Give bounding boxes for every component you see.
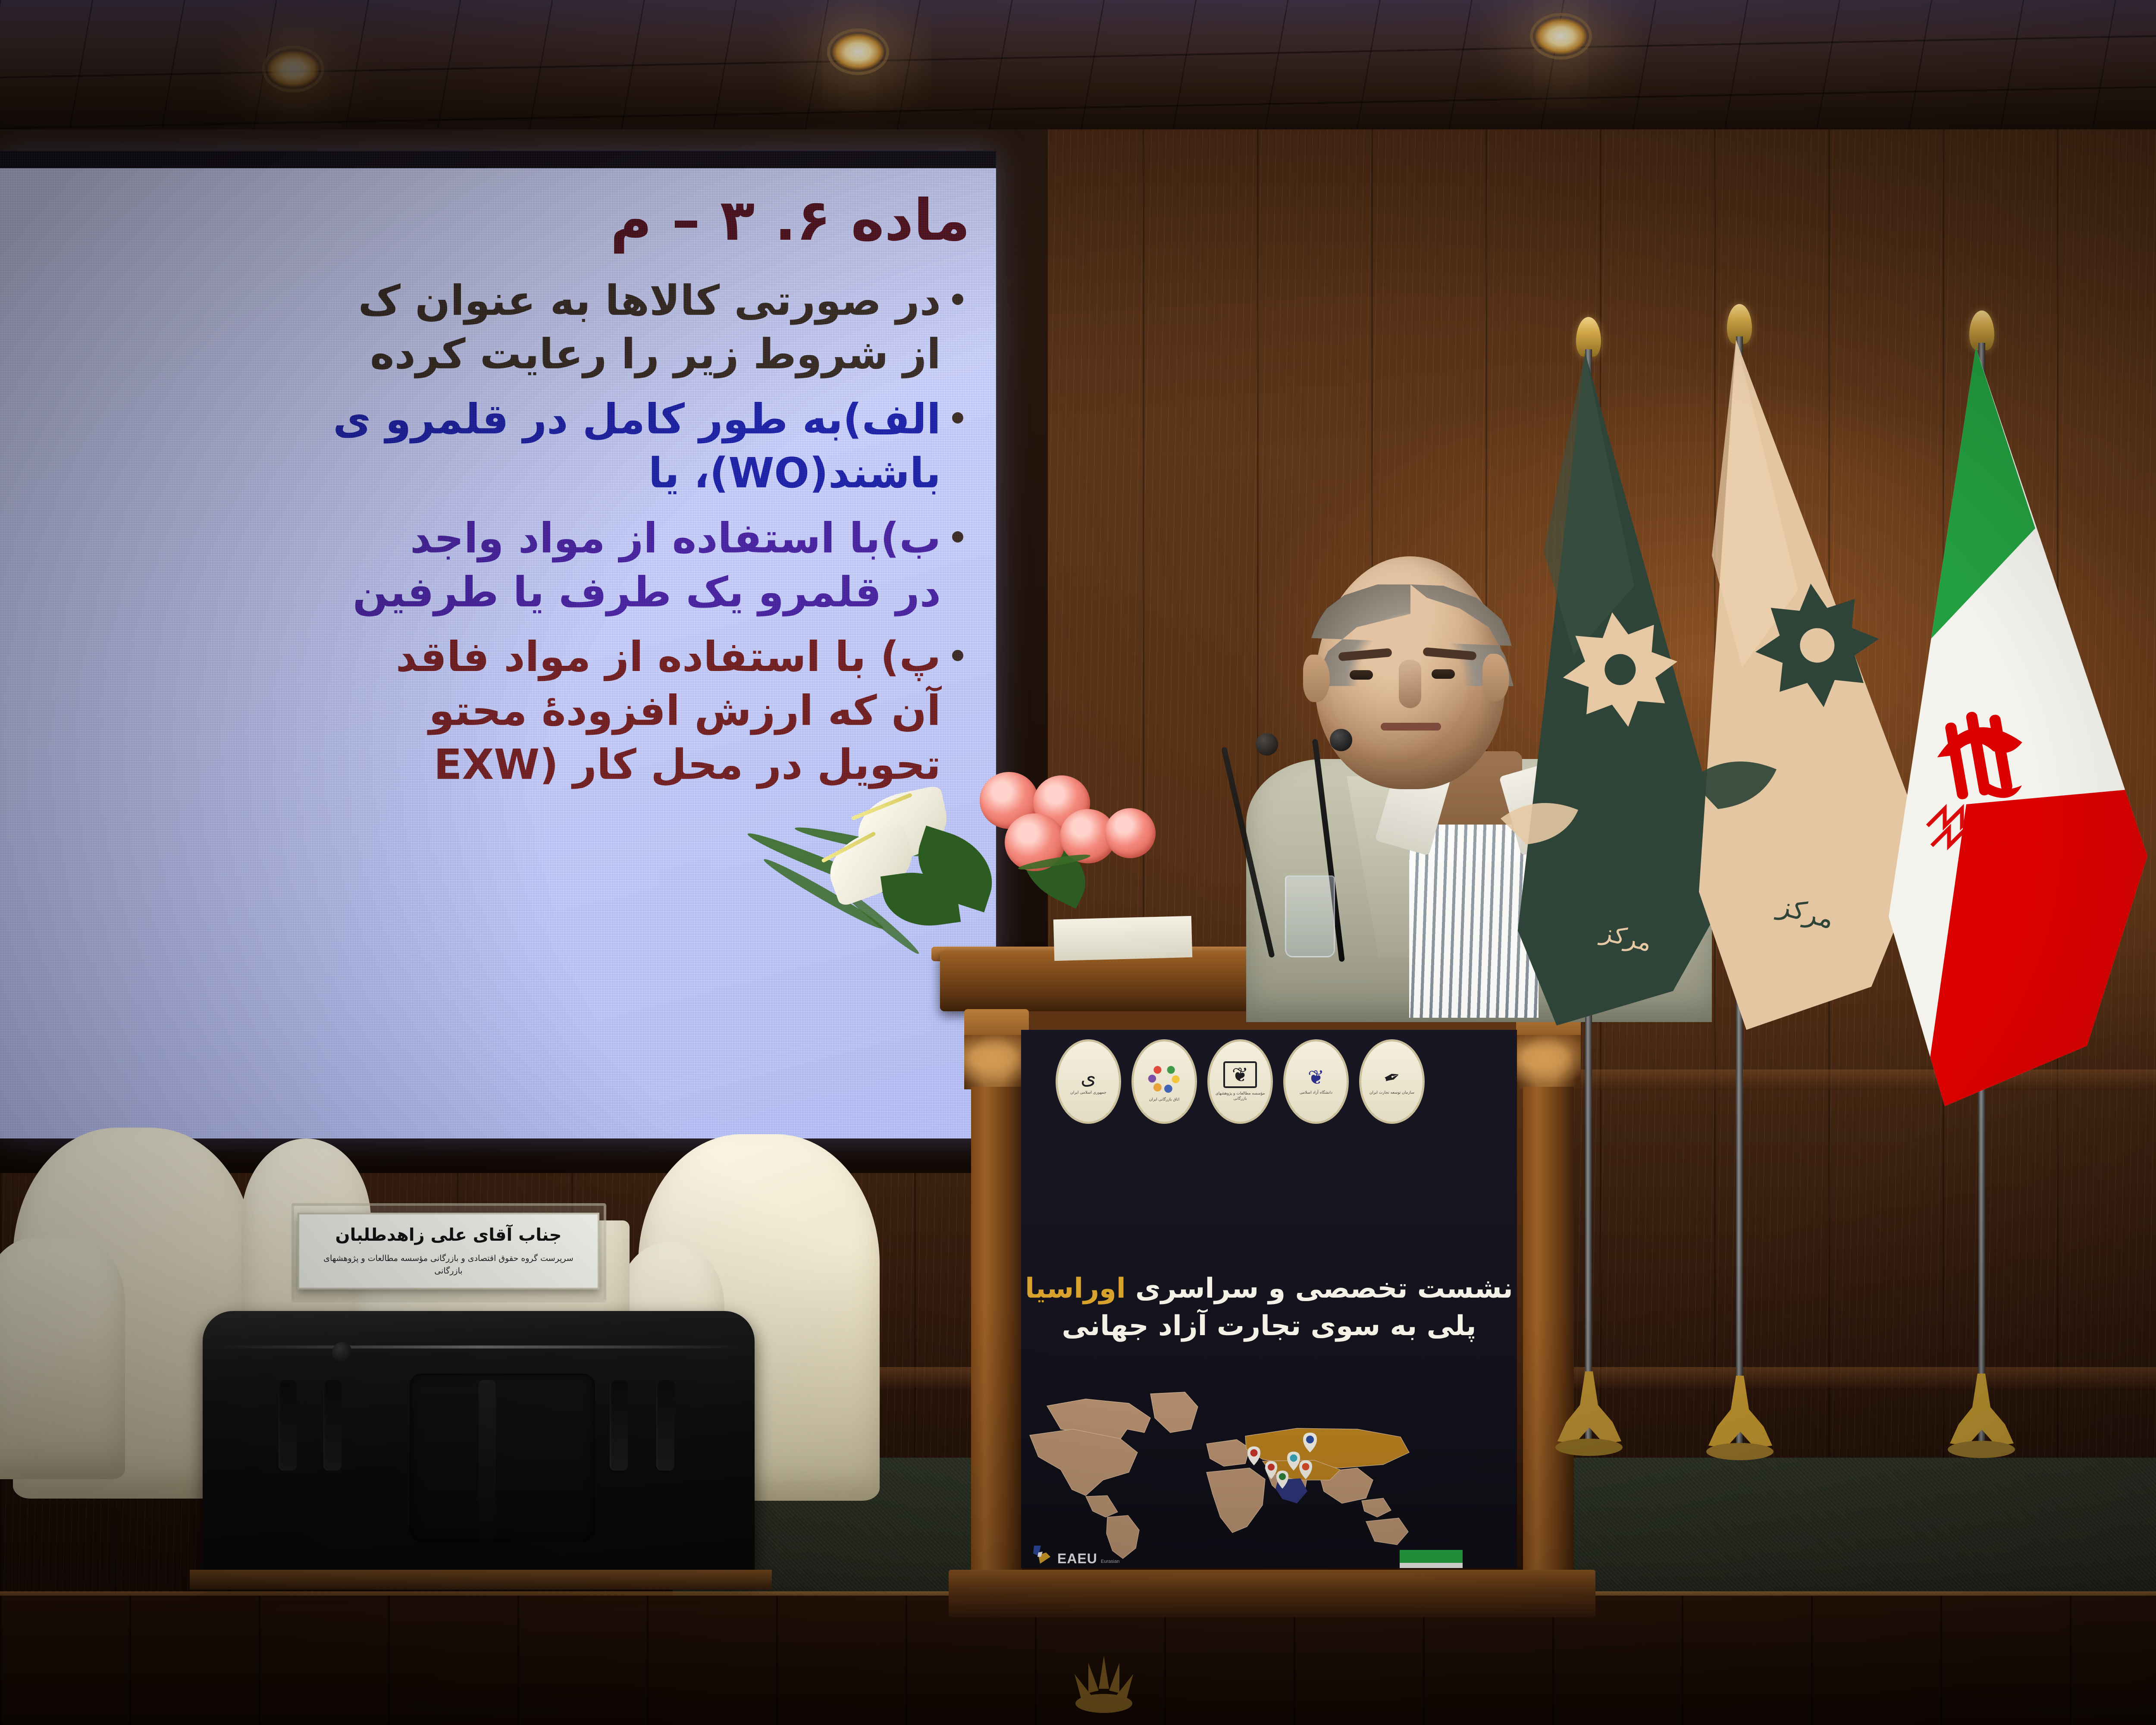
calligraphy-badge: ✒ سازمان توسعه تجارت ایران: [1359, 1039, 1425, 1124]
banner-title-prefix: نشست تخصصی و سراسری: [1126, 1273, 1513, 1305]
banner-green-strip: [1400, 1550, 1463, 1568]
carved-wood-ornament-icon: [1044, 1652, 1164, 1725]
slide-title: ماده ۶. ۳ – م: [0, 191, 970, 251]
azad-logo-icon: ❦: [1308, 1067, 1325, 1087]
badge-caption: دانشگاه آزاد اسلامی: [1295, 1091, 1337, 1096]
slide-bullet-text: الف)به طور کامل در قلمرو ی باشند(WO)، یا: [0, 392, 941, 500]
case-vent: [323, 1380, 342, 1471]
eaeu-logo: EAEU Eurasian: [1031, 1545, 1119, 1565]
ring-logo-icon: [1147, 1060, 1181, 1094]
equipment-base-shelf: [190, 1570, 772, 1590]
azad-university-badge: ❦ دانشگاه آزاد اسلامی: [1283, 1039, 1349, 1124]
slide-bullet-text: ب)با استفاده از مواد واجد در قلمرو یک طر…: [0, 511, 941, 619]
flag-stand-base: [1535, 1371, 1643, 1462]
ceiling-light-icon: [1535, 18, 1587, 54]
name-placard: جناب آقای علی زاهدطلبان سرپرست گروه حقوق…: [298, 1213, 599, 1289]
banner-title-block: نشست تخصصی و سراسری اوراسیا پلی به سوی ت…: [1021, 1271, 1517, 1344]
leaf-frame-icon: ❦: [1223, 1061, 1257, 1088]
banner-title-line1: نشست تخصصی و سراسری اوراسیا: [1021, 1271, 1517, 1306]
banner-title-accent: اوراسیا: [1025, 1273, 1126, 1305]
bullet-dot-icon: [952, 650, 963, 661]
bullet-dot-icon: [952, 294, 963, 305]
slide-bullet-text: در صورتی کالاها به عنوان ک از شروط زیر ر…: [0, 274, 941, 382]
iran-national-flag: [1863, 347, 2156, 1167]
iran-emblem-badge: ی جمهوری اسلامی ایران: [1056, 1039, 1121, 1124]
flower-arrangement: [742, 729, 1147, 1013]
screen-top-frame: [0, 151, 996, 168]
ceiling-light-icon: [832, 34, 884, 70]
banner-title-line2: پلی به سوی تجارت آزاد جهانی: [1021, 1308, 1517, 1344]
speaker-nose: [1399, 660, 1421, 708]
case-vent: [279, 1380, 297, 1471]
speaker-ear-left: [1303, 655, 1330, 702]
badge-caption: مؤسسه مطالعات و پژوهشهای بازرگانی: [1210, 1091, 1271, 1101]
world-map-graphic: [1021, 1388, 1517, 1560]
case-top-highlight: [214, 1345, 743, 1349]
pink-rose: [1105, 808, 1156, 858]
podium-column-carving-left: [964, 1035, 1029, 1089]
case-vent: [656, 1380, 674, 1471]
speaker-mouth: [1381, 723, 1441, 731]
podium-column-right: [1523, 1087, 1574, 1572]
podium-column-left: [971, 1087, 1022, 1572]
eaeu-logo-sub: Eurasian: [1101, 1559, 1119, 1564]
case-handle-recess: [410, 1374, 595, 1542]
bullet-dot-icon: [952, 412, 963, 423]
podium-base: [949, 1570, 1595, 1617]
speaker-eye-right: [1432, 669, 1455, 679]
slide-bullet: در صورتی کالاها به عنوان ک از شروط زیر ر…: [0, 274, 970, 382]
badge-caption: اتاق بازرگانی ایران: [1145, 1098, 1184, 1103]
calligraphy-icon: ✒: [1381, 1065, 1403, 1089]
placard-role-text: سرپرست گروه حقوق اقتصادی و بازرگانی مؤسس…: [299, 1252, 598, 1278]
speaker-papers: [1053, 916, 1192, 961]
flag-stand-base: [1927, 1374, 2035, 1464]
badge-caption: سازمان توسعه تجارت ایران: [1365, 1091, 1419, 1096]
armchair-left-arm: [0, 1238, 125, 1479]
placard-name-text: جناب آقای علی زاهدطلبان: [299, 1226, 598, 1245]
bullet-dot-icon: [952, 531, 963, 543]
colorful-ring-badge: اتاق بازرگانی ایران: [1131, 1039, 1197, 1124]
water-glass: [1285, 875, 1335, 957]
case-screw-icon: [332, 1342, 352, 1362]
flag-stand-base: [1686, 1376, 1794, 1466]
sponsor-badge-row: ی جمهوری اسلامی ایران اتاق بازرگانی ایرا…: [1056, 1039, 1425, 1124]
speaker-eye-left: [1350, 670, 1373, 680]
podium-event-banner: ی جمهوری اسلامی ایران اتاق بازرگانی ایرا…: [1021, 1030, 1517, 1568]
microphone-head-icon[interactable]: [1330, 729, 1352, 751]
case-vent: [610, 1380, 628, 1471]
org-flag-white-blue-4: [2139, 332, 2156, 1160]
conference-hall-photo: ماده ۶. ۳ – م در صورتی کالاها به عنوان ک…: [0, 0, 2156, 1725]
slide-bullet: ب)با استفاده از مواد واجد در قلمرو یک طر…: [0, 511, 970, 619]
case-handle-rib: [479, 1380, 496, 1540]
eaeu-mark-icon: [1031, 1545, 1054, 1565]
leaf-frame-badge: ❦ مؤسسه مطالعات و پژوهشهای بازرگانی: [1207, 1039, 1273, 1124]
ceiling-light-icon: [267, 51, 319, 87]
projector-equipment-case: [203, 1311, 755, 1578]
eaeu-logo-text: EAEU: [1057, 1552, 1097, 1565]
badge-caption: جمهوری اسلامی ایران: [1066, 1091, 1111, 1096]
slide-bullet: الف)به طور کامل در قلمرو ی باشند(WO)، یا: [0, 392, 970, 500]
iran-emblem-icon: ی: [1081, 1067, 1096, 1087]
microphone-head-icon-secondary[interactable]: [1256, 733, 1278, 756]
